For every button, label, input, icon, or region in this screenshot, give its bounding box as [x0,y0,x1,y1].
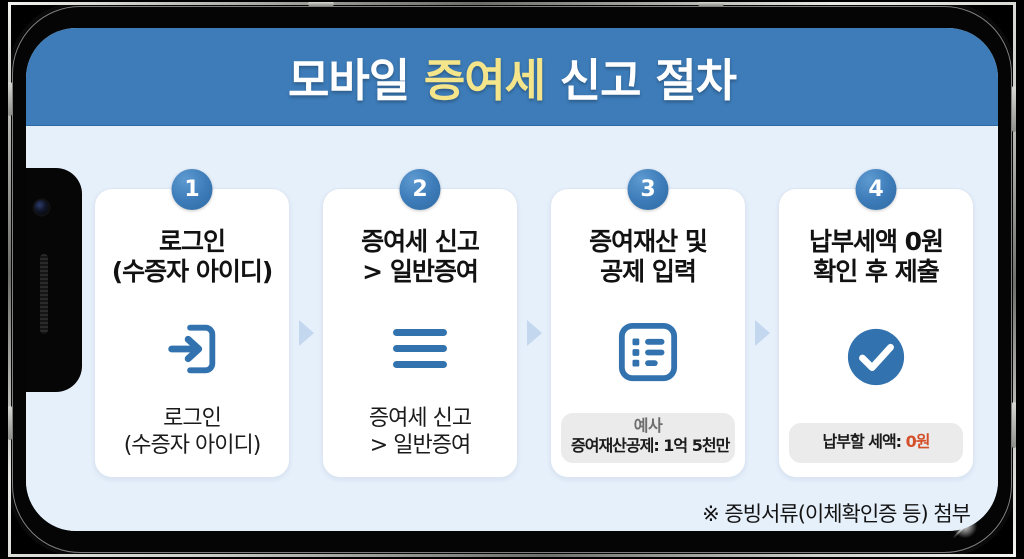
step-heading-1: 로그인 (수증자 아이디) [112,227,273,286]
step-note-4: 납부할 세액: 0원 [789,423,963,463]
step-heading-4: 납부세액 0원 확인 후 제출 [809,227,943,286]
phone-device: 모바일 증여세 신고 절차 1 로그인 (수증자 아이디) [8,2,1016,557]
step-icon-wrap-1 [161,292,223,406]
step-icon-wrap-3 [617,292,679,411]
phone-screen: 모바일 증여세 신고 절차 1 로그인 (수증자 아이디) [26,28,998,531]
step-caption-1: 로그인 (수증자 아이디) [124,406,261,463]
antenna-band-right-bottom [1012,402,1016,448]
check-circle-icon [845,326,907,388]
page-title: 모바일 증여세 신고 절차 [288,44,736,109]
step-number-badge-1: 1 [172,169,213,210]
step-number-badge-4: 4 [856,169,897,210]
step-note-text-4: 납부할 세액: 0원 [799,432,953,453]
step-arrow-1 [290,188,322,478]
chevron-right-icon [527,320,542,346]
page-title-highlight: 증여세 [424,54,545,107]
page-title-part1: 모바일 [288,54,424,107]
page-title-part2: 신고 절차 [545,54,736,107]
step-heading-2: 증여세 신고 > 일반증여 [361,227,479,286]
step-number-badge-2: 2 [400,169,441,210]
form-list-icon [617,321,679,383]
step-heading-3: 증여재산 및 공제 입력 [589,227,707,286]
step-card-3[interactable]: 3 증여재산 및 공제 입력 [550,188,746,478]
volume-down-button[interactable] [698,2,724,6]
footnote: ※ 증빙서류(이체확인증 등) 첨부 [702,498,970,528]
login-arrow-icon [161,318,223,380]
step-note-amount-4: 0원 [906,432,930,451]
step-note-label-4: 납부할 세액: [823,432,906,451]
step-card-2[interactable]: 2 증여세 신고 > 일반증여 증여세 신고 > 일반증여 [322,188,518,478]
step-note-3: 예사 증여재산공제: 1억 5천만 [561,413,735,463]
step-icon-wrap-4 [845,292,907,421]
step-note-text-3: 증여재산공제: 1억 5천만 [571,436,725,457]
earpiece-speaker [40,254,48,334]
step-card-1[interactable]: 1 로그인 (수증자 아이디) 로그인 (수증자 아이디) [94,188,290,478]
antenna-band-left-bottom [8,406,12,440]
antenna-band-right-top [1012,86,1016,132]
step-icon-wrap-2 [390,292,450,406]
chevron-right-icon [755,320,770,346]
chevron-right-icon [299,320,314,346]
steps-row: 1 로그인 (수증자 아이디) 로그인 (수증자 아이디) [94,188,974,478]
volume-up-button[interactable] [308,2,334,6]
page-header: 모바일 증여세 신고 절차 [26,28,998,126]
step-arrow-2 [518,188,550,478]
step-arrow-3 [746,188,778,478]
phone-notch [26,168,82,392]
step-caption-2: 증여세 신고 > 일반증여 [369,406,471,463]
step-note-title-3: 예사 [571,416,725,436]
content-area: 1 로그인 (수증자 아이디) 로그인 (수증자 아이디) [26,126,998,531]
step-card-4[interactable]: 4 납부세액 0원 확인 후 제출 납부할 세액: 0원 [778,188,974,478]
front-camera-icon [34,200,49,215]
hamburger-menu-icon [390,326,450,372]
step-number-badge-3: 3 [628,169,669,210]
antenna-band-left-top [8,82,12,116]
